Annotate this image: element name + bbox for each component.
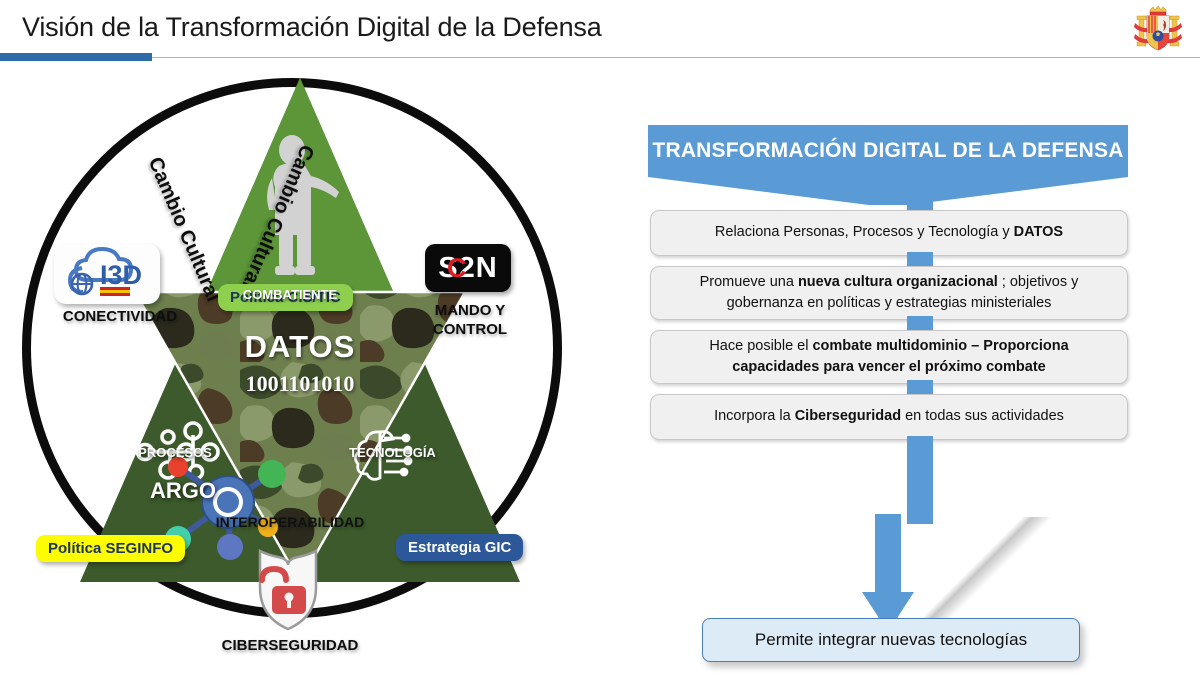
flow-banner: TRANSFORMACIÓN DIGITAL DE LA DEFENSA [648,125,1128,177]
spain-coat-of-arms-icon [1130,3,1186,55]
label-interoperabilidad: INTEROPERABILIDAD [190,514,390,530]
flow-step-1[interactable]: Relaciona Personas, Procesos y Tecnologí… [650,210,1128,256]
label-combatiente: COMBATIENTE [225,287,355,302]
label-conectividad: CONECTIVIDAD [40,308,200,325]
flow-step-2-text: Promueve una nueva cultura organizaciona… [667,272,1111,314]
label-tecnologia: TECNOLOGÍA [325,445,460,460]
page-title: Visión de la Transformación Digital de l… [22,12,602,43]
flow-step-3[interactable]: Hace posible el combate multidominio – P… [650,330,1128,384]
label-procesos: PROCESOS [110,445,240,460]
flow-step-4[interactable]: Incorpora la Ciberseguridad en todas sus… [650,394,1128,440]
datos-title: DATOS [215,329,385,365]
label-mando-y-control: MANDO Y CONTROL [415,302,525,340]
argo-wordmark: ARGO [150,478,260,504]
chip-estrategia-gic[interactable]: Estrategia GIC [396,534,523,561]
cloud-globe-icon: I3D [54,244,160,304]
datos-binary: 1001101010 [215,371,385,397]
header-accent-bar [0,53,152,61]
label-ciberseguridad: CIBERSEGURIDAD [200,637,380,654]
transformation-flow: TRANSFORMACIÓN DIGITAL DE LA DEFENSA Rel… [640,62,1200,675]
down-arrow-icon [862,514,914,634]
i3d-logo[interactable]: I3D [54,244,160,304]
shield-open-padlock-icon [260,551,316,629]
arrow-shadow [905,517,1055,622]
slide-canvas: Visión de la Transformación Digital de l… [0,0,1200,675]
flow-step-4-text: Incorpora la Ciberseguridad en todas sus… [714,406,1064,427]
svg-text:I3D: I3D [100,260,142,290]
flow-step-3-text: Hace posible el combate multidominio – P… [667,336,1111,378]
chip-politica-seginfo[interactable]: Política SEGINFO [36,535,185,562]
connector-5 [907,436,933,524]
flow-step-2[interactable]: Promueve una nueva cultura organizaciona… [650,266,1128,320]
s2n-red-mark: C [447,253,468,284]
header-divider [0,57,1200,58]
flow-banner-tail [648,177,1128,205]
flow-result-box[interactable]: Permite integrar nuevas tecnologías [702,618,1080,662]
flow-step-1-text: Relaciona Personas, Procesos y Tecnologí… [715,222,1063,243]
s2n-logo[interactable]: S2N C [425,244,511,292]
vision-circle-diagram: Cambio Cultural Cambio Cultural Política… [0,62,600,675]
